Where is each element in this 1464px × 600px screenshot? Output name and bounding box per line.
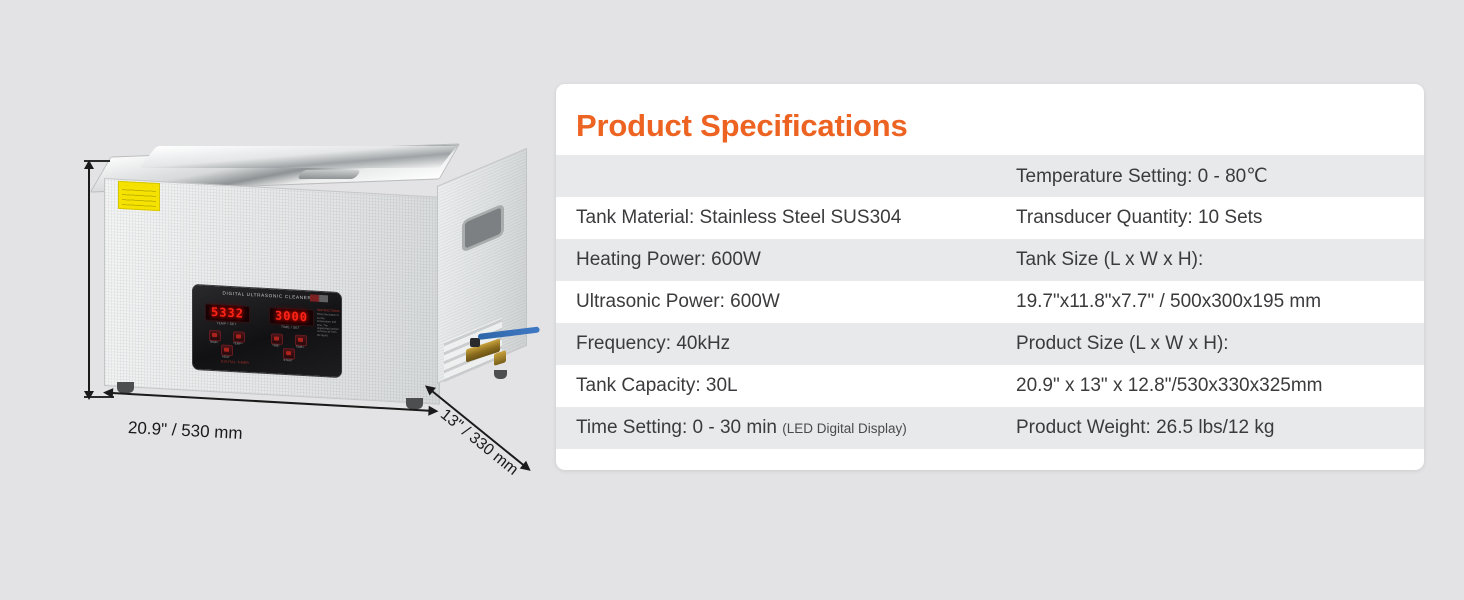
spec-cell-left: Heating Power: 600W (556, 249, 1016, 271)
spec-cell-left: Frequency: 40kHz (556, 333, 1016, 355)
spec-cell-right: 19.7"x11.8"x7.7" / 500x300x195 mm (1016, 291, 1424, 313)
ultrasonic-cleaner-illustration: DIGITAL ULTRASONIC CLEANER 5332 TEMP / S… (0, 0, 556, 600)
spec-cell-left: Ultrasonic Power: 600W (556, 291, 1016, 313)
drain-valve-outlet (494, 350, 506, 366)
product-figure: DIGITAL ULTRASONIC CLEANER 5332 TEMP / S… (0, 0, 556, 600)
brand-mark-icon (310, 294, 328, 302)
page-title: Product Specifications (576, 108, 908, 144)
cleaner-foot (406, 398, 423, 409)
table-row: Tank Material: Stainless Steel SUS304Tra… (556, 197, 1424, 239)
warning-label (118, 181, 160, 211)
heat-button-label: HEAT (215, 354, 237, 359)
table-row: Ultrasonic Power: 600W19.7"x11.8"x7.7" /… (556, 281, 1424, 323)
cleaner-foot (117, 382, 134, 393)
control-panel-footer-text: DIGITAL TIMER (221, 359, 249, 365)
spec-cell-left: Tank Material: Stainless Steel SUS304 (556, 207, 1016, 229)
temp-down-button-label: TEMP- (203, 339, 225, 344)
spec-cell-right: Product Weight: 26.5 lbs/12 kg (1016, 417, 1424, 439)
start-button-label: START (277, 358, 299, 363)
height-dimension-arrow (88, 168, 90, 392)
control-panel-instructions-body: Press the button to set the temperature … (317, 313, 339, 337)
tank-lid-handle (297, 170, 362, 179)
tank-lid-top-surface (139, 146, 456, 168)
cleaner-foot (494, 370, 507, 379)
spec-cell-right: Temperature Setting: 0 - 80℃ (1016, 165, 1424, 188)
table-row: Time Setting: 0 - 30 min (LED Digital Di… (556, 407, 1424, 449)
spec-cell-right: Tank Size (L x W x H): (1016, 249, 1424, 271)
table-row: Heating Power: 600WTank Size (L x W x H)… (556, 239, 1424, 281)
spec-cell-right: 20.9" x 13" x 12.8"/530x330x325mm (1016, 375, 1424, 397)
control-panel-instructions: INSTRUCTIONS Press the button to set the… (317, 309, 339, 338)
spec-cell-left: Tank Capacity: 30L (556, 375, 1016, 397)
table-row: Temperature Setting: 0 - 80℃ (556, 155, 1424, 197)
spec-cell-right: Product Size (L x W x H): (1016, 333, 1424, 355)
control-panel: DIGITAL ULTRASONIC CLEANER 5332 TEMP / S… (192, 284, 342, 378)
product-specifications-card: Product Specifications Temperature Setti… (556, 84, 1424, 470)
spec-cell-left-note: (LED Digital Display) (782, 421, 907, 436)
spec-cell-right: Transducer Quantity: 10 Sets (1016, 207, 1424, 229)
specifications-table: Temperature Setting: 0 - 80℃Tank Materia… (556, 155, 1424, 449)
table-row: Frequency: 40kHzProduct Size (L x W x H)… (556, 323, 1424, 365)
time-down-button-label: TIME- (265, 343, 287, 348)
spec-cell-left: Time Setting: 0 - 30 min (LED Digital Di… (556, 417, 1016, 439)
table-row: Tank Capacity: 30L20.9" x 13" x 12.8"/53… (556, 365, 1424, 407)
spec-cell-left-text: Time Setting: 0 - 30 min (576, 417, 782, 438)
